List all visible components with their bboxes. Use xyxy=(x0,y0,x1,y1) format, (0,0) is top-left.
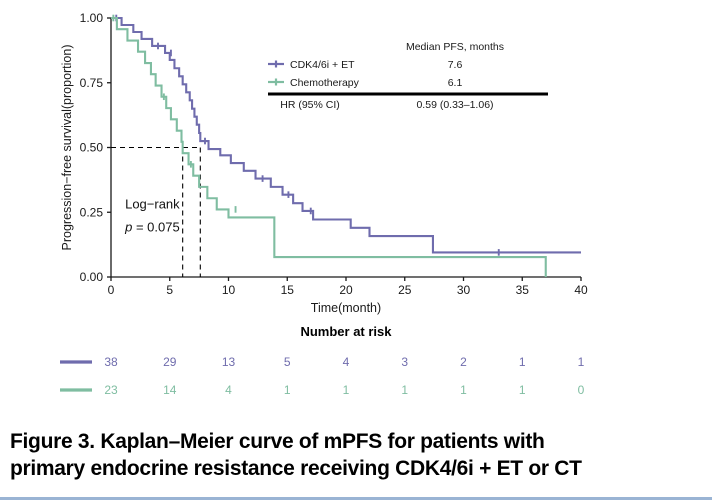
risk-count: 23 xyxy=(104,383,118,397)
x-tick-label: 35 xyxy=(516,283,530,297)
x-tick-label: 10 xyxy=(222,283,236,297)
x-axis-title: Time(month) xyxy=(311,301,381,315)
x-tick-label: 0 xyxy=(108,283,115,297)
risk-count: 1 xyxy=(401,383,408,397)
y-tick-label: 1.00 xyxy=(80,11,104,25)
risk-count: 1 xyxy=(343,383,350,397)
kaplan-meier-chart: 0.000.250.500.751.000510152025303540Time… xyxy=(0,0,712,420)
x-tick-label: 5 xyxy=(166,283,173,297)
caption-line-1: Figure 3. Kaplan–Meier curve of mPFS for… xyxy=(10,428,710,455)
annotation-text: Log−rank xyxy=(125,196,180,211)
caption-line-2: primary endocrine resistance receiving C… xyxy=(10,455,710,482)
legend-label: CDK4/6i + ET xyxy=(290,59,355,71)
median-pfs-value: 6.1 xyxy=(448,77,463,89)
x-tick-label: 20 xyxy=(339,283,353,297)
legend-label: Chemotherapy xyxy=(290,77,360,89)
risk-count: 5 xyxy=(284,355,291,369)
stats-table-header: Median PFS, months xyxy=(406,41,504,53)
risk-count: 4 xyxy=(343,355,350,369)
hr-label: HR (95% CI) xyxy=(280,99,340,111)
x-tick-label: 40 xyxy=(574,283,588,297)
figure-root: 0.000.250.500.751.000510152025303540Time… xyxy=(0,0,712,501)
x-tick-label: 30 xyxy=(457,283,471,297)
bottom-accent-rule xyxy=(0,497,712,500)
x-tick-label: 25 xyxy=(398,283,412,297)
risk-count: 1 xyxy=(519,355,526,369)
risk-count: 3 xyxy=(401,355,408,369)
median-pfs-value: 7.6 xyxy=(448,59,463,71)
y-axis-title: Progression−free survival(proportion) xyxy=(60,45,74,251)
risk-count: 2 xyxy=(460,355,467,369)
x-tick-label: 15 xyxy=(281,283,295,297)
y-tick-label: 0.25 xyxy=(80,205,104,219)
risk-count: 1 xyxy=(460,383,467,397)
risk-count: 0 xyxy=(578,383,585,397)
risk-count: 1 xyxy=(519,383,526,397)
risk-count: 4 xyxy=(225,383,232,397)
figure-caption: Figure 3. Kaplan–Meier curve of mPFS for… xyxy=(10,428,710,482)
y-tick-label: 0.75 xyxy=(80,76,104,90)
y-tick-label: 0.00 xyxy=(80,270,104,284)
risk-count: 13 xyxy=(222,355,236,369)
risk-count: 1 xyxy=(578,355,585,369)
annotation-text: p = 0.075 xyxy=(124,220,180,235)
risk-count: 1 xyxy=(284,383,291,397)
risk-count: 29 xyxy=(163,355,177,369)
risk-count: 14 xyxy=(163,383,177,397)
risk-count: 38 xyxy=(104,355,118,369)
risk-table-title: Number at risk xyxy=(300,324,392,339)
hr-value: 0.59 (0.33–1.06) xyxy=(416,99,493,111)
y-tick-label: 0.50 xyxy=(80,141,104,155)
